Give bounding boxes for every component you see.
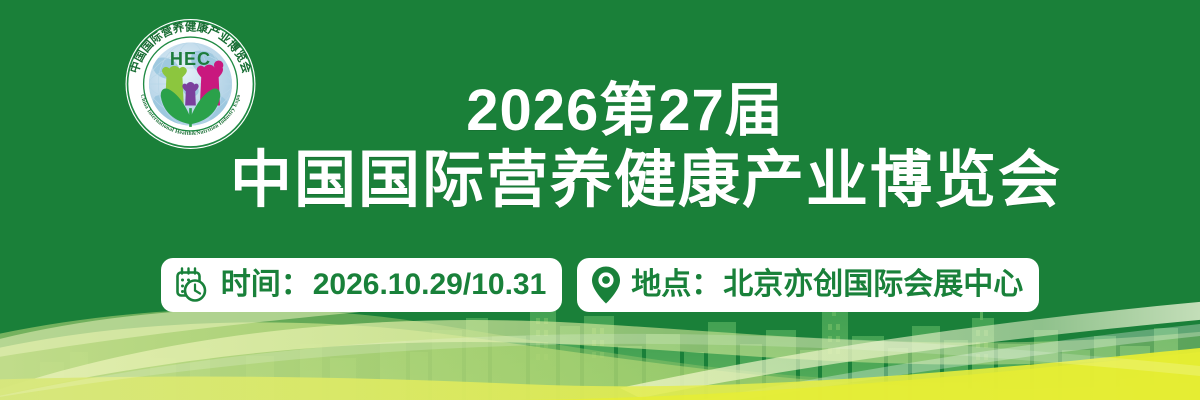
event-venue-label: 地点：	[631, 268, 721, 302]
banner-title: 2026第27届 中国国际营养健康产业博览会	[230, 78, 1020, 218]
event-date-pill: 时间： 2026.10.29/10.31	[161, 258, 563, 312]
title-line-2: 中国国际营养健康产业博览会	[230, 144, 1020, 218]
map-pin-icon	[589, 264, 623, 306]
event-date-value: 2026.10.29/10.31	[313, 268, 547, 302]
calendar-clock-icon	[173, 265, 213, 305]
event-date-label: 时间：	[221, 268, 311, 302]
event-info-row: 时间： 2026.10.29/10.31 地点： 北京亦创国际会展中心	[0, 258, 1200, 312]
event-venue-pill: 地点： 北京亦创国际会展中心	[577, 258, 1039, 312]
title-line-1: 2026第27届	[230, 78, 1020, 144]
event-banner: 中国国际营养健康产业博览会 China International Health…	[0, 0, 1200, 400]
event-venue-value: 北京亦创国际会展中心	[723, 268, 1023, 302]
